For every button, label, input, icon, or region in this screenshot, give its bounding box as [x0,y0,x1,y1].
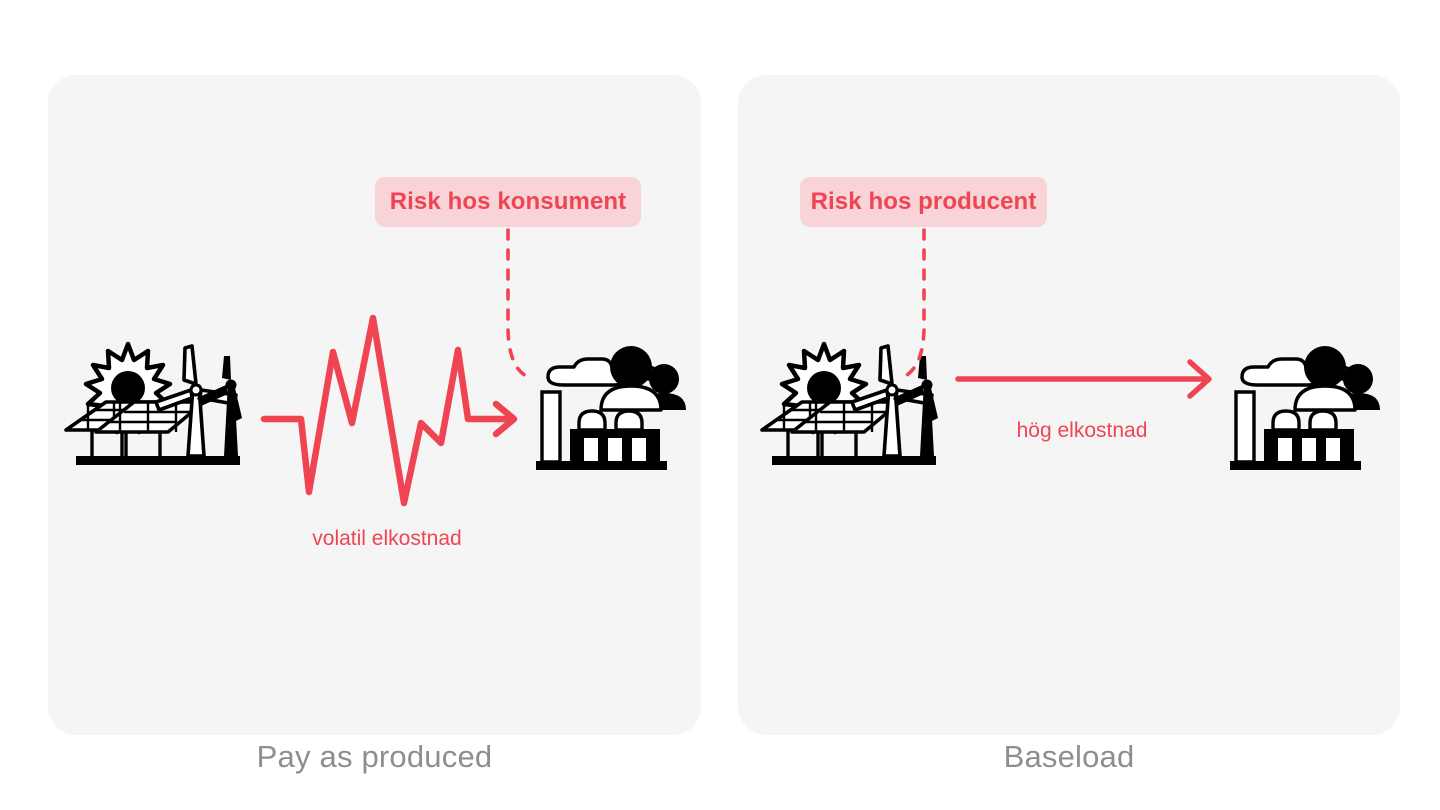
status-badge-risk-producent: Risk hos producent [800,177,1047,227]
panel-caption-baseload: Baseload [738,739,1400,775]
panel-baseload: Baseload [738,75,1400,735]
panel-pay-as-produced: Pay as produced [48,75,701,735]
diagram-canvas: Pay as produced Baseload [0,0,1440,810]
cost-label-volatil-elkostnad: volatil elkostnad [287,527,487,551]
panel-caption-pay-as-produced: Pay as produced [48,739,701,775]
cost-label-hog-elkostnad: hög elkostnad [982,419,1182,443]
status-badge-risk-konsument: Risk hos konsument [375,177,641,227]
